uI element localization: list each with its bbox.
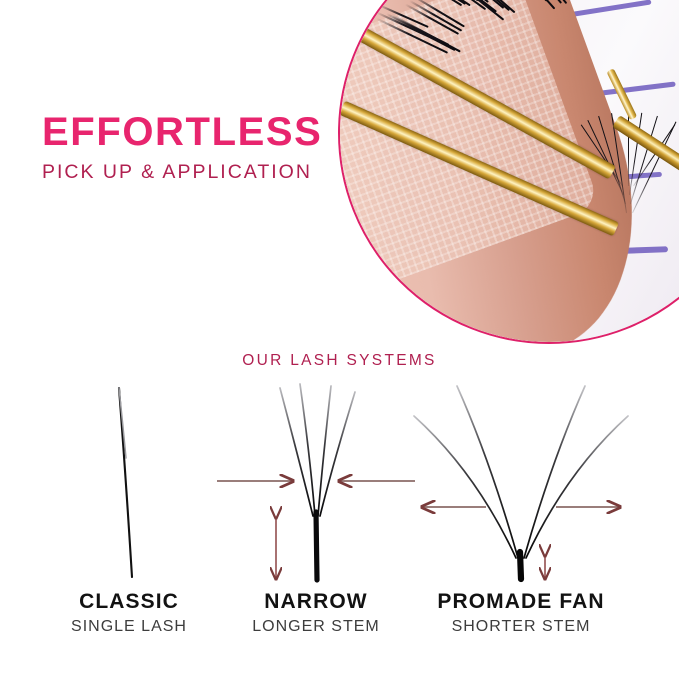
section-label: OUR LASH SYSTEMS xyxy=(0,352,679,370)
system-narrow: NARROW LONGER STEM xyxy=(203,380,429,650)
system-title: PROMADE FAN xyxy=(408,590,634,613)
promade-caption: PROMADE FAN SHORTER STEM xyxy=(408,590,634,636)
lash-systems-row: CLASSIC SINGLE LASH xyxy=(0,380,679,650)
headline-title: EFFORTLESS xyxy=(42,112,342,152)
headline-subtitle: PICK UP & APPLICATION xyxy=(42,163,342,183)
narrow-caption: NARROW LONGER STEM xyxy=(203,590,429,636)
headline-block: EFFORTLESS PICK UP & APPLICATION xyxy=(42,112,342,183)
promade-fan-diagram xyxy=(408,380,634,585)
system-title: NARROW xyxy=(203,590,429,613)
narrow-fan-diagram xyxy=(203,380,429,585)
system-promade-fan: PROMADE FAN SHORTER STEM xyxy=(408,380,634,650)
hero-photo-circle: 10 12 10 9 7 xyxy=(338,0,679,344)
system-subtitle: SHORTER STEM xyxy=(408,618,634,636)
system-subtitle: LONGER STEM xyxy=(203,618,429,636)
hero-photo: 10 12 10 9 7 xyxy=(340,0,679,342)
infographic-canvas: 10 12 10 9 7 EFFORTLESS PICK UP & APPLIC… xyxy=(0,0,679,679)
